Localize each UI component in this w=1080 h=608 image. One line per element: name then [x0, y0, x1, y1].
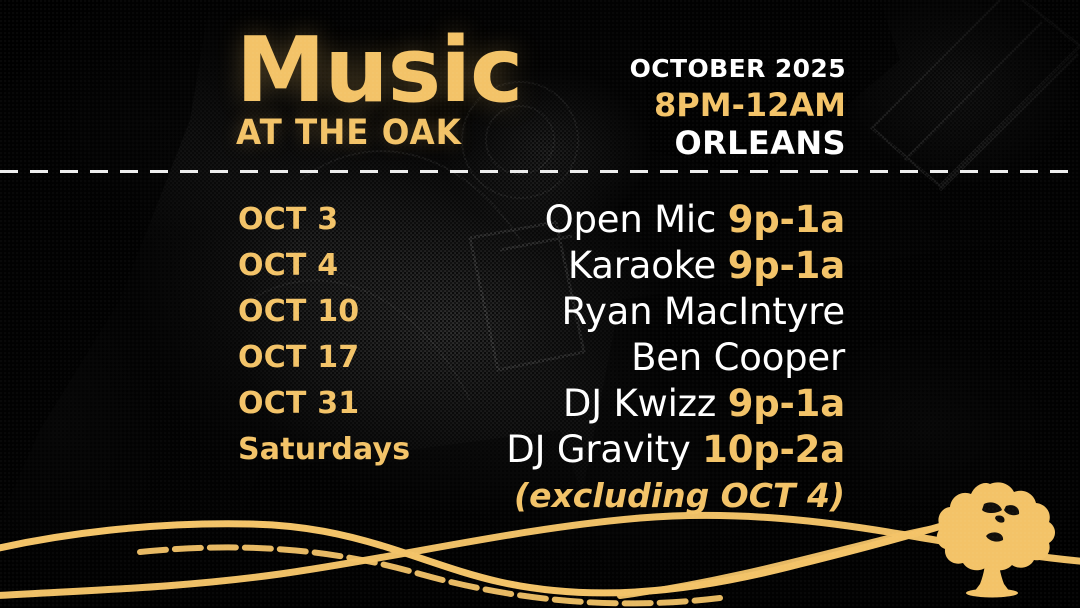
schedule-act: Open Mic 9p-1a [545, 198, 845, 241]
poster-header: Music AT THE OAK OCTOBER 2025 8PM-12AM O… [0, 0, 1080, 172]
dashed-divider [0, 170, 1080, 173]
oak-tree-icon [926, 476, 1058, 604]
schedule-list: OCT 3 Open Mic 9p-1a OCT 4 Karaoke 9p-1a… [0, 196, 1080, 518]
schedule-act: DJ Kwizz 9p-1a [563, 382, 845, 425]
act-time: 9p-1a [728, 198, 845, 241]
schedule-date: OCT 10 [238, 294, 359, 329]
list-item: OCT 10 Ryan MacIntyre [0, 288, 1080, 334]
hours-label: 8PM-12AM [426, 86, 846, 124]
list-item: OCT 17 Ben Cooper [0, 334, 1080, 380]
poster-canvas: Music AT THE OAK OCTOBER 2025 8PM-12AM O… [0, 0, 1080, 608]
list-item: OCT 31 DJ Kwizz 9p-1a [0, 380, 1080, 426]
schedule-date: OCT 3 [238, 202, 338, 237]
schedule-act: Karaoke 9p-1a [568, 244, 845, 287]
venue-label: ORLEANS [426, 125, 846, 162]
act-name: Open Mic [545, 198, 717, 241]
schedule-act: Ryan MacIntyre [561, 290, 845, 333]
act-name: Karaoke [568, 244, 716, 287]
act-name: Ben Cooper [631, 336, 845, 379]
act-name: DJ Kwizz [563, 382, 716, 425]
exclusion-note: (excluding OCT 4) [514, 476, 845, 515]
schedule-act: DJ Gravity 10p-2a [506, 428, 845, 471]
act-time: 10p-2a [702, 428, 845, 471]
list-item-note: (excluding OCT 4) [0, 472, 1080, 518]
schedule-date: OCT 4 [238, 248, 338, 283]
list-item: OCT 3 Open Mic 9p-1a [0, 196, 1080, 242]
schedule-act: Ben Cooper [631, 336, 845, 379]
act-time: 9p-1a [728, 244, 845, 287]
list-item: OCT 4 Karaoke 9p-1a [0, 242, 1080, 288]
month-label: OCTOBER 2025 [426, 54, 846, 84]
list-item: Saturdays DJ Gravity 10p-2a [0, 426, 1080, 472]
header-meta-block: OCTOBER 2025 8PM-12AM ORLEANS [426, 54, 846, 162]
act-name: Ryan MacIntyre [561, 290, 845, 333]
schedule-date: OCT 31 [238, 386, 359, 421]
schedule-date: Saturdays [238, 432, 410, 467]
schedule-date: OCT 17 [238, 340, 359, 375]
act-name: DJ Gravity [506, 428, 690, 471]
act-time: 9p-1a [728, 382, 845, 425]
